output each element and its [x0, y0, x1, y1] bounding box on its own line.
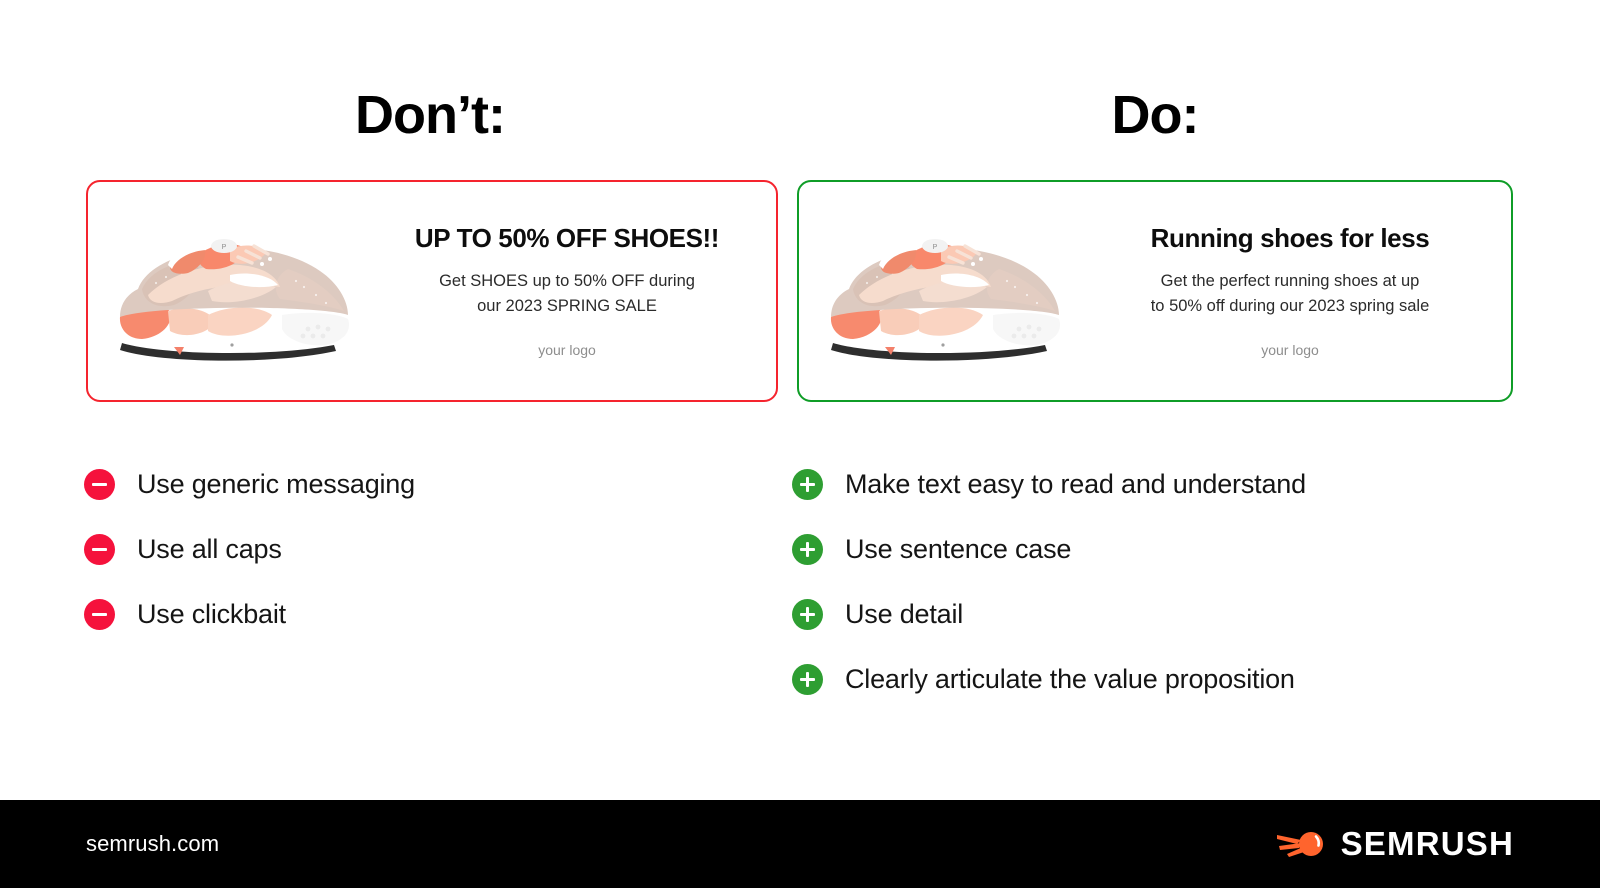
- product-image-sneaker: P: [809, 195, 1081, 387]
- ad-copy-bad: UP TO 50% OFF SHOES!! Get SHOES up to 50…: [370, 224, 776, 358]
- footer-bar: semrush.com SEMRUSH: [0, 800, 1600, 888]
- minus-circle-icon: [84, 599, 115, 630]
- infographic-page: Don’t: Do:: [0, 0, 1600, 888]
- ad-logo-placeholder-good: your logo: [1081, 342, 1499, 358]
- dont-item-label: Use clickbait: [137, 599, 286, 630]
- ad-subtext-bad: Get SHOES up to 50% OFF during our 2023 …: [370, 269, 764, 320]
- list-item: Use sentence case: [792, 517, 1306, 582]
- ad-logo-placeholder-bad: your logo: [370, 342, 764, 358]
- dont-item-label: Use all caps: [137, 534, 282, 565]
- semrush-comet-icon: [1275, 827, 1327, 861]
- do-item-label: Use detail: [845, 599, 963, 630]
- plus-circle-icon: [792, 664, 823, 695]
- minus-circle-icon: [84, 469, 115, 500]
- dont-list: Use generic messaging Use all caps Use c…: [84, 452, 415, 647]
- list-item: Use clickbait: [84, 582, 415, 647]
- ad-subtext-line-2: to 50% off during our 2023 spring sale: [1081, 294, 1499, 320]
- list-item: Use all caps: [84, 517, 415, 582]
- list-item: Use generic messaging: [84, 452, 415, 517]
- do-item-label: Make text easy to read and understand: [845, 469, 1306, 500]
- ad-subtext-line-2: our 2023 SPRING SALE: [370, 294, 764, 320]
- semrush-logo: SEMRUSH: [1275, 825, 1514, 863]
- list-item: Clearly articulate the value proposition: [792, 647, 1306, 712]
- svg-text:P: P: [933, 244, 938, 251]
- product-image-sneaker: P: [98, 195, 370, 387]
- ad-copy-good: Running shoes for less Get the perfect r…: [1081, 224, 1511, 358]
- ad-subtext-line-1: Get the perfect running shoes at up: [1081, 269, 1499, 295]
- list-item: Use detail: [792, 582, 1306, 647]
- ad-card-bad-example: P UP TO 50% OFF SHOES!! Get SHOES up to …: [86, 180, 778, 402]
- semrush-wordmark: SEMRUSH: [1341, 825, 1514, 863]
- column-title-do: Do:: [797, 88, 1513, 142]
- ad-headline-bad: UP TO 50% OFF SHOES!!: [370, 224, 764, 253]
- do-item-label: Clearly articulate the value proposition: [845, 664, 1295, 695]
- plus-circle-icon: [792, 599, 823, 630]
- ad-headline-good: Running shoes for less: [1081, 224, 1499, 253]
- ad-subtext-line-1: Get SHOES up to 50% OFF during: [370, 269, 764, 295]
- ad-card-good-example: P Running shoes for less Get the perfect…: [797, 180, 1513, 402]
- minus-circle-icon: [84, 534, 115, 565]
- ad-subtext-good: Get the perfect running shoes at up to 5…: [1081, 269, 1499, 320]
- footer-website-url: semrush.com: [86, 831, 219, 857]
- list-item: Make text easy to read and understand: [792, 452, 1306, 517]
- do-item-label: Use sentence case: [845, 534, 1071, 565]
- do-list: Make text easy to read and understand Us…: [792, 452, 1306, 712]
- dont-item-label: Use generic messaging: [137, 469, 415, 500]
- column-title-dont: Don’t:: [0, 88, 860, 142]
- plus-circle-icon: [792, 534, 823, 565]
- svg-text:P: P: [222, 244, 227, 251]
- plus-circle-icon: [792, 469, 823, 500]
